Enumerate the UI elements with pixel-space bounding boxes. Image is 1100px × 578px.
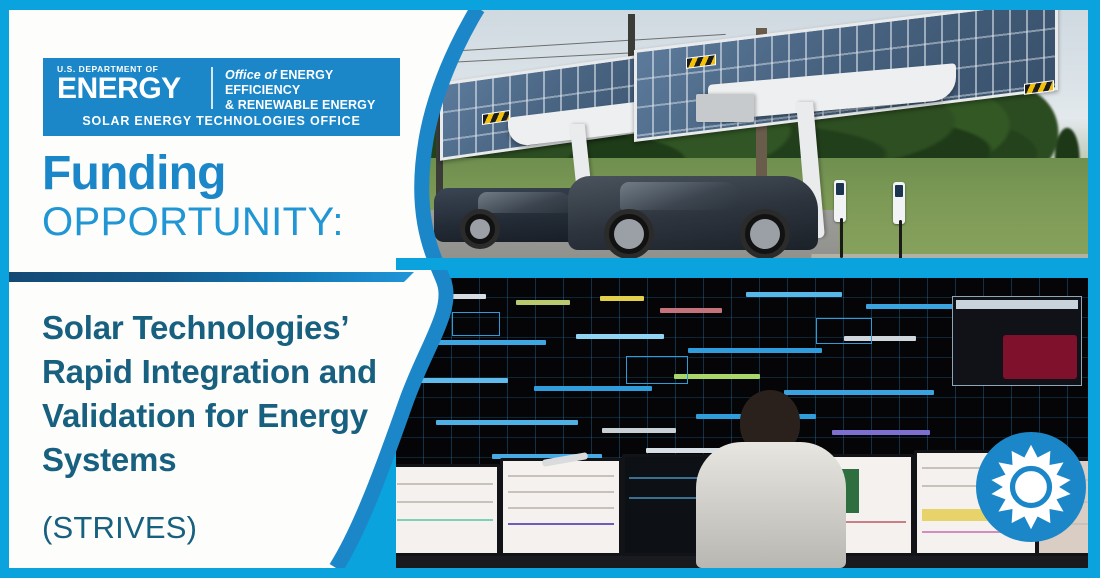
ev-charger-station — [893, 182, 905, 224]
operator-torso — [696, 442, 846, 568]
eere-line-1: Office of ENERGY EFFICIENCY — [225, 68, 395, 98]
schematic-bus — [426, 340, 546, 345]
schematic-bus — [832, 430, 930, 435]
schematic-bus — [412, 378, 508, 383]
schematic-detail-panel — [952, 296, 1082, 386]
seto-office-name: SOLAR ENERGY TECHNOLOGIES OFFICE — [43, 114, 400, 128]
monitor-screen — [396, 467, 497, 553]
ev-charger-station — [834, 180, 846, 222]
ev-charging-cable — [899, 220, 902, 262]
schematic-block — [452, 312, 500, 336]
screen-row — [397, 483, 493, 485]
program-acronym: (STRIVES) — [42, 510, 197, 546]
schematic-bus — [746, 292, 842, 297]
car-window — [620, 182, 740, 210]
seto-sun-badge — [976, 432, 1086, 542]
solar-carport-photo — [396, 10, 1088, 268]
frame-right — [1088, 0, 1100, 578]
screen-row — [508, 523, 615, 525]
schematic-bus — [602, 428, 676, 433]
frame-bottom — [0, 568, 1100, 578]
frame-left — [0, 0, 9, 578]
car-window — [478, 192, 574, 213]
eere-line-2: & RENEWABLE ENERGY — [225, 98, 395, 113]
screen-row — [397, 501, 493, 503]
doe-seto-logo: U.S. DEPARTMENT OF ENERGY Office of ENER… — [43, 58, 400, 136]
canopy-crossbeam — [696, 94, 754, 122]
car-wheel — [460, 209, 500, 249]
page-title: Solar Technologies’ Rapid Integration an… — [42, 306, 408, 482]
panel-magenta-region — [1003, 335, 1077, 379]
schematic-block — [816, 318, 872, 344]
schematic-bus — [534, 386, 652, 391]
eyebrow-funding: Funding — [42, 150, 226, 198]
car-wheel — [740, 209, 790, 259]
grid-control-room-photo — [396, 278, 1088, 568]
eyebrow-opportunity: OPPORTUNITY: — [42, 202, 344, 242]
funding-opportunity-banner: U.S. DEPARTMENT OF ENERGY Office of ENER… — [0, 0, 1100, 578]
screen-row — [508, 491, 615, 493]
schematic-bus — [600, 296, 644, 301]
ev-charging-cable — [840, 218, 843, 258]
office-of-italic: Office of — [225, 68, 276, 82]
panel-header-bar — [956, 300, 1078, 309]
electric-suv — [568, 176, 818, 250]
doe-energy-wordmark: ENERGY — [57, 75, 202, 104]
frame-top — [0, 0, 1100, 10]
screen-row — [508, 507, 615, 509]
schematic-bus — [436, 420, 578, 425]
schematic-block — [626, 356, 688, 384]
schematic-bus — [516, 300, 570, 305]
eere-office-name: Office of ENERGY EFFICIENCY & RENEWABLE … — [225, 68, 395, 112]
curb — [811, 254, 1088, 268]
screen-row — [397, 519, 493, 521]
sun-icon — [987, 443, 1075, 531]
doe-wordmark: U.S. DEPARTMENT OF ENERGY — [57, 65, 202, 103]
schematic-bus — [688, 348, 822, 353]
control-room-operator — [696, 390, 846, 568]
operator-monitor — [500, 458, 622, 556]
screen-row — [508, 475, 615, 477]
schematic-bus — [576, 334, 664, 339]
gradient-divider — [8, 272, 404, 282]
car-wheel — [604, 209, 654, 259]
operator-monitor — [396, 464, 500, 556]
logo-divider-rule — [211, 67, 213, 109]
schematic-bus — [660, 308, 722, 313]
